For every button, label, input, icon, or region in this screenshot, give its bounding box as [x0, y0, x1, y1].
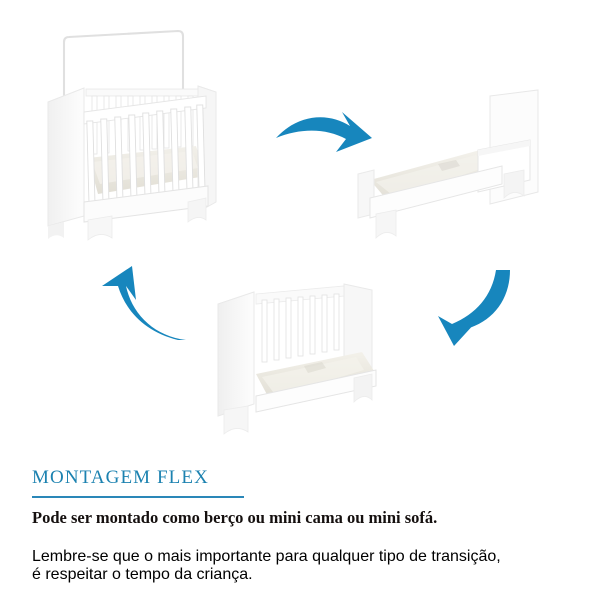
crib-svg — [26, 26, 231, 251]
mini-sofa-svg — [204, 278, 409, 446]
crib-foot-right — [188, 198, 206, 222]
mini-sofa-side-panel-left — [218, 292, 254, 416]
mini-bed-foot-left — [376, 210, 396, 238]
mini-sofa-back-slats — [256, 286, 344, 362]
mini-sofa-foot-left — [224, 406, 248, 434]
canopy-rod-icon — [64, 31, 183, 98]
note-line-1: Lembre-se que o mais importante para qua… — [32, 548, 572, 566]
crib-illustration — [26, 26, 231, 251]
note-line-2: é respeitar o tempo da criança. — [32, 566, 572, 584]
arrow-up-left-icon — [98, 256, 198, 346]
mini-bed-illustration — [352, 88, 552, 248]
title-underline-rule — [32, 496, 244, 498]
crib-foot-left — [88, 216, 112, 240]
text-block: MONTAGEM FLEX Pode ser montado como berç… — [32, 466, 572, 600]
mini-sofa-illustration — [204, 278, 409, 446]
crib-headboard-panel — [48, 88, 84, 226]
arrow-down-left-icon — [418, 266, 520, 354]
mini-bed-svg — [352, 88, 552, 248]
infographic-page: MONTAGEM FLEX Pode ser montado como berç… — [0, 0, 600, 600]
page-title: MONTAGEM FLEX — [32, 466, 572, 490]
lead-description: Pode ser montado como berço ou mini cama… — [32, 507, 572, 529]
arrow-right-icon — [272, 102, 380, 170]
arrow-mini-sofa-to-crib — [98, 256, 198, 346]
mini-sofa-foot-right — [354, 374, 372, 402]
arrow-crib-to-mini-bed — [272, 102, 380, 170]
arrow-mini-bed-to-mini-sofa — [418, 266, 520, 354]
